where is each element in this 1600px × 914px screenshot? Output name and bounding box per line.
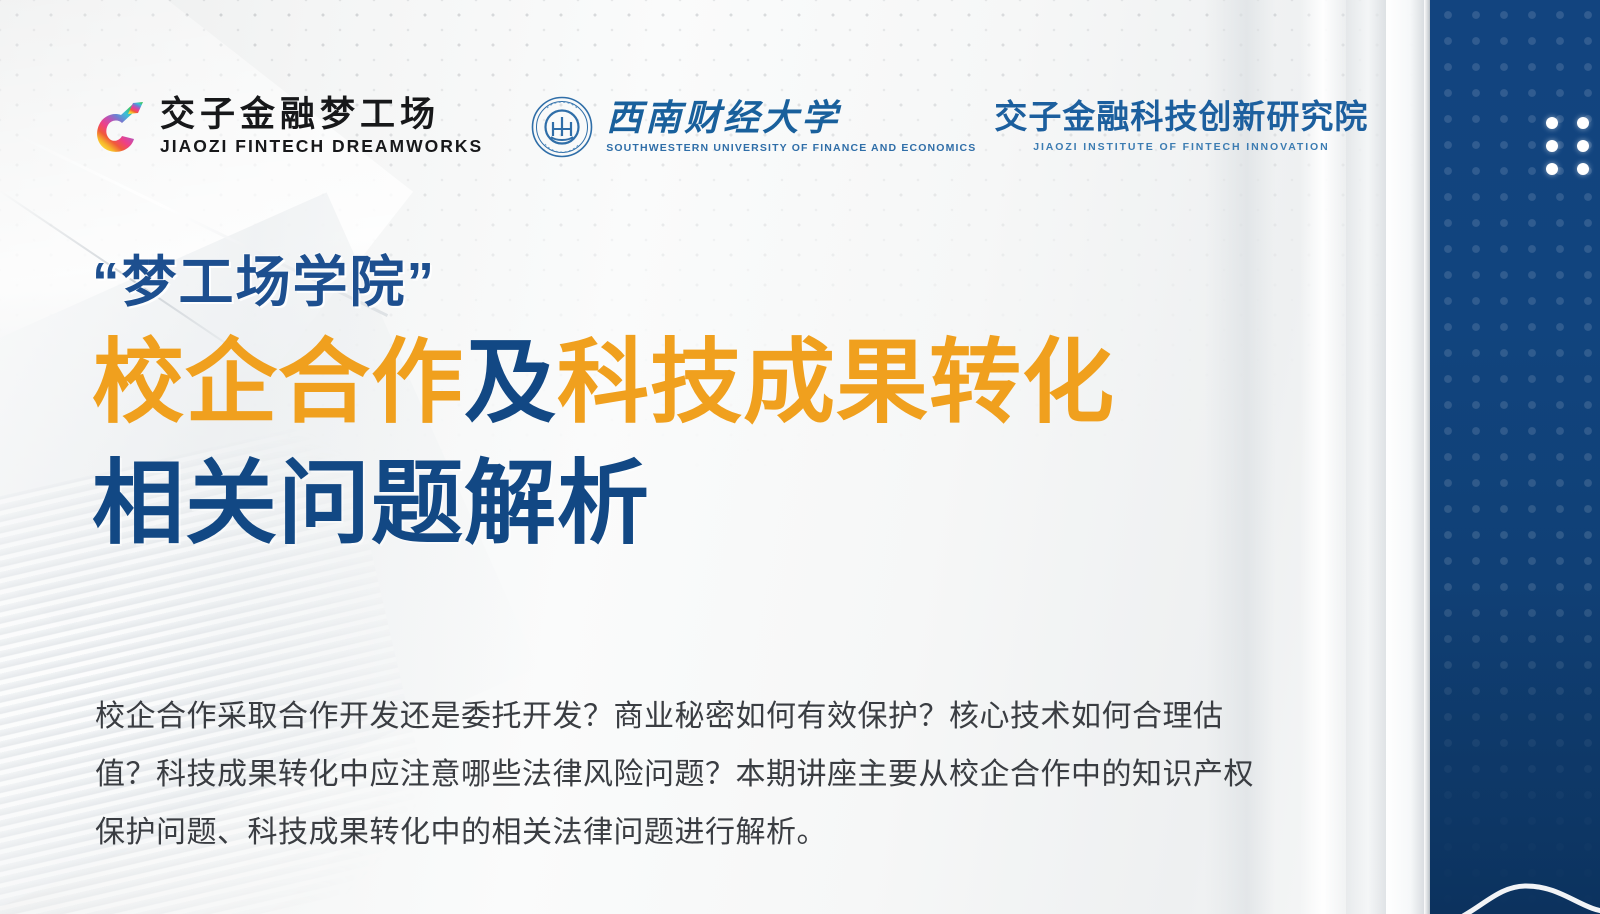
title-headline-line-1: 校企合作及科技成果转化 — [92, 323, 1272, 444]
highlight-dot — [1577, 117, 1589, 129]
logo-jiaozi-institute: 交子金融科技创新研究院 JIAOZI INSTITUTE OF FINTECH … — [994, 100, 1368, 153]
title-headline-line-2: 相关问题解析 — [92, 444, 1272, 565]
highlight-dot — [1546, 140, 1558, 152]
swufe-en: SOUTHWESTERN UNIVERSITY OF FINANCE AND E… — [606, 142, 976, 155]
poster-canvas: 交子金融梦工场 JIAOZI FINTECH DREAMWORKS 西南财经大学… — [0, 0, 1600, 914]
body-copy: 校企合作采取合作开发还是委托开发？商业秘密如何有效保护？核心技术如何合理估值？科… — [95, 688, 1255, 862]
title-kicker: “梦工场学院” — [92, 248, 1272, 317]
highlight-dot — [1577, 163, 1589, 175]
body-paragraph: 校企合作采取合作开发还是委托开发？商业秘密如何有效保护？核心技术如何合理估值？科… — [95, 688, 1255, 862]
blue-dotted-panel — [1430, 0, 1600, 914]
jiaozi-dreamworks-cn: 交子金融梦工场 — [160, 97, 483, 134]
white-curve-decoration — [1430, 842, 1600, 914]
highlight-dot — [1546, 163, 1558, 175]
highlight-dot — [1577, 140, 1589, 152]
logo-swufe: 西南财经大学 SOUTHWESTERN UNIVERSITY OF FINANC… — [531, 96, 976, 158]
jiaozi-institute-cn: 交子金融科技创新研究院 — [994, 100, 1368, 135]
logo-jiaozi-dreamworks: 交子金融梦工场 JIAOZI FINTECH DREAMWORKS — [88, 97, 483, 158]
headline-part-conjunction: 及 — [464, 332, 557, 434]
swufe-seal-emblem-icon — [531, 96, 593, 158]
headline-part-school-enterprise: 校企合作 — [92, 332, 464, 434]
jiaozi-institute-en: JIAOZI INSTITUTE OF FINTECH INNOVATION — [994, 141, 1368, 154]
swufe-cn: 西南财经大学 — [606, 100, 976, 138]
jiaozi-dreamworks-en: JIAOZI FINTECH DREAMWORKS — [160, 136, 483, 157]
logo-row: 交子金融梦工场 JIAOZI FINTECH DREAMWORKS 西南财经大学… — [88, 96, 1368, 158]
headline-part-tech-transfer: 科技成果转化 — [557, 332, 1115, 434]
title-block: “梦工场学院” 校企合作及科技成果转化 相关问题解析 — [92, 248, 1272, 566]
highlight-dot — [1546, 117, 1558, 129]
jiaozi-c-gradient-mark-icon — [88, 98, 144, 156]
